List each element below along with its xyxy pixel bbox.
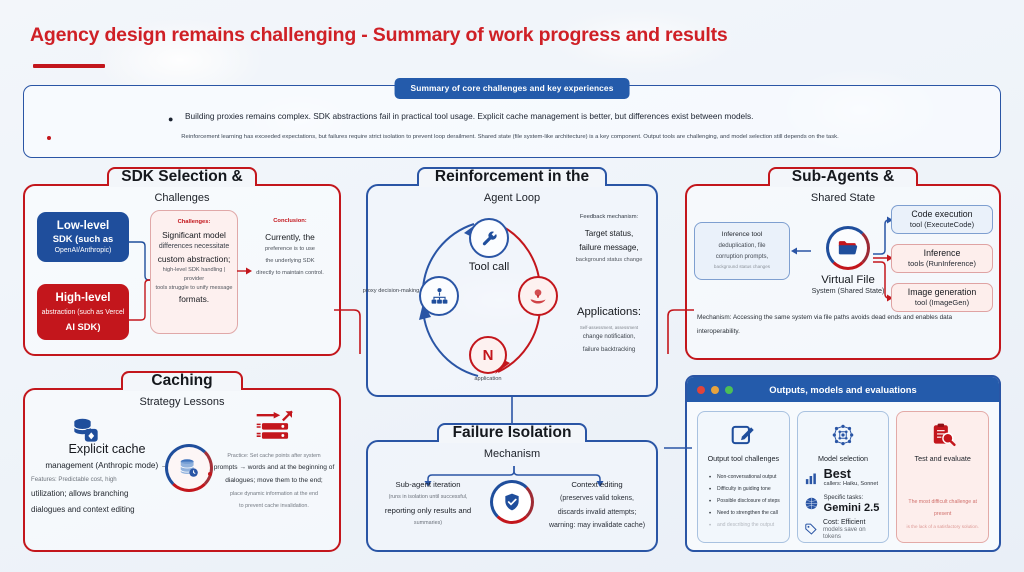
sdk-high-line1: High-level	[41, 291, 125, 305]
panel-failure-isolation: Failure Isolation Mechanism Sub-agent it…	[366, 440, 658, 552]
failure-context-editing-block: Context editing (preserves valid tokens,…	[538, 478, 656, 532]
inference-note-line1: Inference tool	[695, 229, 789, 241]
card-output-tool-challenges: Output tool challenges Non-conversationa…	[697, 411, 790, 543]
card-test-and-evaluate: Test and evaluate The most difficult cha…	[896, 411, 989, 543]
sdk-challenges-line5: tools struggle to unify message	[155, 284, 233, 293]
panel-title: Reinforcement in the	[366, 168, 658, 186]
card3-heading: Test and evaluate	[903, 454, 982, 463]
bullet-dot-red	[47, 136, 51, 140]
tool-inference-line2: tools (RunInference)	[892, 259, 992, 269]
summary-banner-chip: Summary of core challenges and key exper…	[395, 78, 630, 99]
failure-left-line3: reporting only results and	[370, 504, 486, 518]
sdk-challenges-line6: formats.	[155, 293, 233, 306]
sdk-challenges-line4: high-level SDK handling | provider	[155, 266, 233, 284]
sdk-conclusion-line1: Currently, the	[247, 231, 333, 244]
wrench-icon	[480, 229, 499, 248]
summary-bullet-1-text: Building proxies remains complex. SDK ab…	[185, 111, 753, 121]
model-row-cost: Cost: Efficient models save on tokens	[804, 519, 883, 540]
feedback-line2: failure message,	[562, 241, 656, 255]
tool-code-line2: tool (ExecuteCode)	[892, 220, 992, 230]
tool-box-code-execution: Code execution tool (ExecuteCode)	[891, 205, 993, 234]
connector-center-to-subagents	[650, 300, 694, 360]
hand-idea-icon	[528, 286, 548, 306]
feedback-heading: Feedback mechanism:	[562, 214, 656, 220]
window-titlebar: Outputs, models and evaluations	[687, 377, 999, 402]
sdk-challenges-box: Challenges: Significant model difference…	[150, 210, 238, 334]
panel-reinforcement-loop: Reinforcement in the Agent Loop Tool cal…	[366, 184, 658, 397]
caching-right-line5: to prevent cache invalidation.	[213, 500, 335, 512]
window-title: Outputs, models and evaluations	[687, 384, 999, 395]
tool-box-image-generation: Image generation tool (ImageGen)	[891, 283, 993, 312]
inference-note-line2: deduplication, file	[695, 241, 789, 252]
sdk-challenges-line1: Significant model	[155, 229, 233, 242]
node-application-glyph: N	[483, 347, 494, 364]
window-cards: Output tool challenges Non-conversationa…	[687, 402, 999, 552]
tool-code-line1: Code execution	[892, 209, 992, 220]
model-row-best: Best callers: Haiku, Sonnet	[804, 468, 883, 488]
sdk-conclusion-line2: preference is to use	[247, 244, 333, 256]
tool-box-inference: Inference tools (RunInference)	[891, 244, 993, 273]
panel-caching-strategy: Caching Strategy Lessons Explicit cache …	[23, 388, 341, 552]
model-cost-detail: models save on tokens	[823, 526, 882, 540]
caching-center-ring	[165, 444, 213, 492]
connector-to-outputs	[660, 430, 692, 460]
model-row-specific: Specific tasks: Gemini 2.5	[804, 493, 883, 513]
sdk-challenges-line3: custom abstraction;	[155, 253, 233, 266]
tool-image-line1: Image generation	[892, 287, 992, 298]
sdk-conclusion-line4: directly to maintain control.	[247, 268, 333, 280]
applications-line2: failure backtracking	[562, 344, 656, 356]
card1-list: Non-conversational output Difficulty in …	[704, 472, 783, 532]
failure-shield-ring	[490, 480, 534, 524]
caching-right-line3: dialogues; move them to the end;	[213, 475, 335, 488]
model-specific-value: Gemini 2.5	[824, 503, 880, 514]
caching-right-line1: Practice: Set cache points after system	[213, 450, 335, 462]
bullet-dot: ●	[168, 114, 173, 125]
panel-subtitle: Strategy Lessons	[23, 396, 341, 408]
connector-sdk-to-center	[334, 300, 374, 360]
hierarchy-icon	[430, 287, 449, 306]
arrow-vfs-to-inference-note	[791, 246, 811, 256]
caching-left-heading: Explicit cache	[31, 440, 183, 459]
failure-left-line4: summaries)	[370, 518, 486, 530]
card2-heading: Model selection	[804, 454, 883, 463]
list-item: Difficulty in guiding tone	[708, 484, 783, 496]
shield-check-icon	[502, 492, 522, 512]
tool-inference-line1: Inference	[892, 248, 992, 259]
caching-left-line3: dialogues and context editing	[31, 502, 183, 518]
feedback-line3: background status change	[562, 255, 656, 266]
model-best-label: Best	[824, 468, 878, 481]
list-item: Possible disclosure of steps	[708, 496, 783, 508]
panel-title: Sub-Agents &	[685, 168, 1001, 186]
sdk-low-level-box: Low-level SDK (such as OpenAI/Anthropic)	[37, 212, 129, 262]
failure-left-line2: (runs in isolation until successful,	[370, 492, 486, 504]
applications-line1: change notification,	[562, 331, 656, 343]
failure-right-line1: Context editing	[538, 478, 656, 492]
list-item-faint: and describing the output	[708, 520, 783, 532]
panel-subagents-shared-state: Sub-Agents & Shared State Inference tool…	[685, 184, 1001, 360]
node-tool-call-label: Tool call	[439, 261, 539, 273]
inference-note-line4: background status changes	[695, 263, 789, 272]
clipboard-search-icon	[930, 422, 956, 448]
sdk-low-line1: Low-level	[41, 219, 125, 233]
applications-line0: Self-assessment, assessment	[562, 324, 656, 331]
vfs-ring	[826, 226, 870, 270]
failure-right-line2: (preserves valid tokens,	[538, 492, 656, 505]
sdk-challenges-line2: differences necessitate	[155, 242, 233, 253]
applications-heading: Applications:	[562, 306, 656, 318]
node-tool-call	[469, 218, 509, 258]
sdk-conclusion-heading: Conclusion:	[247, 218, 333, 224]
sdk-high-line3: AI SDK)	[41, 321, 125, 333]
caching-right-block: Practice: Set cache points after system …	[213, 450, 335, 512]
caching-left-features: Features: Predictable cost, high	[31, 473, 183, 486]
folder-icon	[837, 237, 859, 259]
panel-title: SDK Selection &	[23, 168, 341, 186]
bar-chart-icon	[804, 471, 819, 486]
inference-note-line3: corruption prompts,	[695, 252, 789, 263]
feedback-line1: Target status,	[562, 227, 656, 241]
title-underline	[33, 64, 105, 68]
node-proxy-decision	[419, 276, 459, 316]
feedback-mechanism-block: Feedback mechanism: Target status, failu…	[562, 214, 656, 266]
sdk-low-line2: SDK (such as	[41, 233, 125, 245]
node-application: N	[469, 336, 507, 374]
list-item: Non-conversational output	[708, 472, 783, 484]
caching-left-block: Explicit cache management (Anthropic mod…	[31, 440, 183, 517]
database-clock-icon	[178, 457, 200, 479]
globe-grid-icon	[804, 496, 819, 511]
card3-line1: The most difficult challenge at present	[903, 497, 982, 521]
node-proxy-label: proxy decision-making	[362, 288, 420, 294]
infographic-page: Agency design remains challenging - Summ…	[0, 0, 1024, 572]
page-title: Agency design remains challenging - Summ…	[30, 24, 728, 47]
tool-image-line2: tool (ImageGen)	[892, 298, 992, 308]
sdk-conclusion-line3: the underlying SDK	[247, 256, 333, 268]
sdk-low-line3: OpenAI/Anthropic)	[41, 246, 125, 255]
shared-state-mechanism-text: Mechanism: Accessing the same system via…	[697, 311, 989, 339]
model-cost-label: Cost: Efficient	[823, 519, 882, 526]
caching-left-sub: management (Anthropic mode) →	[31, 459, 183, 473]
list-item: Need to strengthen the call	[708, 508, 783, 520]
inference-tool-note-box: Inference tool deduplication, file corru…	[694, 222, 790, 280]
node-application-label: application	[452, 376, 524, 382]
failure-subagent-block: Sub-agent iteration (runs in isolation u…	[370, 478, 486, 530]
caching-right-dot	[208, 472, 212, 476]
caching-right-line2: prompts → words and at the beginning of	[213, 462, 335, 475]
summary-bullet-2-text: Reinforcement learning has exceeded expe…	[181, 134, 839, 140]
card-model-selection: Model selection Best callers: Haiku, Son…	[797, 411, 890, 543]
failure-right-line4: warning: may invalidate cache)	[538, 519, 656, 532]
applications-block: Applications: Self-assessment, assessmen…	[562, 306, 656, 356]
caching-left-line2: utilization; allows branching	[31, 486, 183, 502]
node-feedback	[518, 276, 558, 316]
sdk-conclusion-box: Conclusion: Currently, the preference is…	[247, 218, 333, 280]
sdk-challenges-heading: Challenges:	[155, 219, 233, 225]
server-arrow-icon	[255, 410, 295, 444]
panel-subtitle: Shared State	[685, 192, 1001, 204]
model-best-detail: callers: Haiku, Sonnet	[824, 481, 878, 489]
panel-subtitle: Agent Loop	[366, 192, 658, 204]
caching-right-line4: place dynamic information at the end	[213, 488, 335, 500]
panel-title: Caching	[23, 372, 341, 390]
window-outputs-models-evaluations: Outputs, models and evaluations Output t…	[685, 375, 1001, 552]
failure-right-line3: discards invalid attempts;	[538, 506, 656, 519]
panel-subtitle: Challenges	[23, 192, 341, 204]
sdk-high-line2: abstraction (such as Vercel	[41, 308, 125, 317]
panel-title: Failure Isolation	[366, 424, 658, 442]
panel-sdk-selection: SDK Selection & Challenges Low-level SDK…	[23, 184, 341, 356]
summary-bullet-1: ● Building proxies remains complex. SDK …	[185, 112, 845, 122]
failure-left-line1: Sub-agent iteration	[370, 478, 486, 492]
edit-square-icon	[730, 422, 756, 448]
card3-line2: is the lack of a satisfactory solution.	[903, 521, 982, 532]
card1-heading: Output tool challenges	[704, 454, 783, 463]
panel-subtitle: Mechanism	[366, 448, 658, 460]
price-tag-icon	[804, 522, 818, 537]
network-mesh-icon	[830, 422, 856, 448]
summary-bullet-2: Reinforcement learning has exceeded expe…	[105, 134, 915, 141]
sdk-high-level-box: High-level abstraction (such as Vercel A…	[37, 284, 129, 340]
